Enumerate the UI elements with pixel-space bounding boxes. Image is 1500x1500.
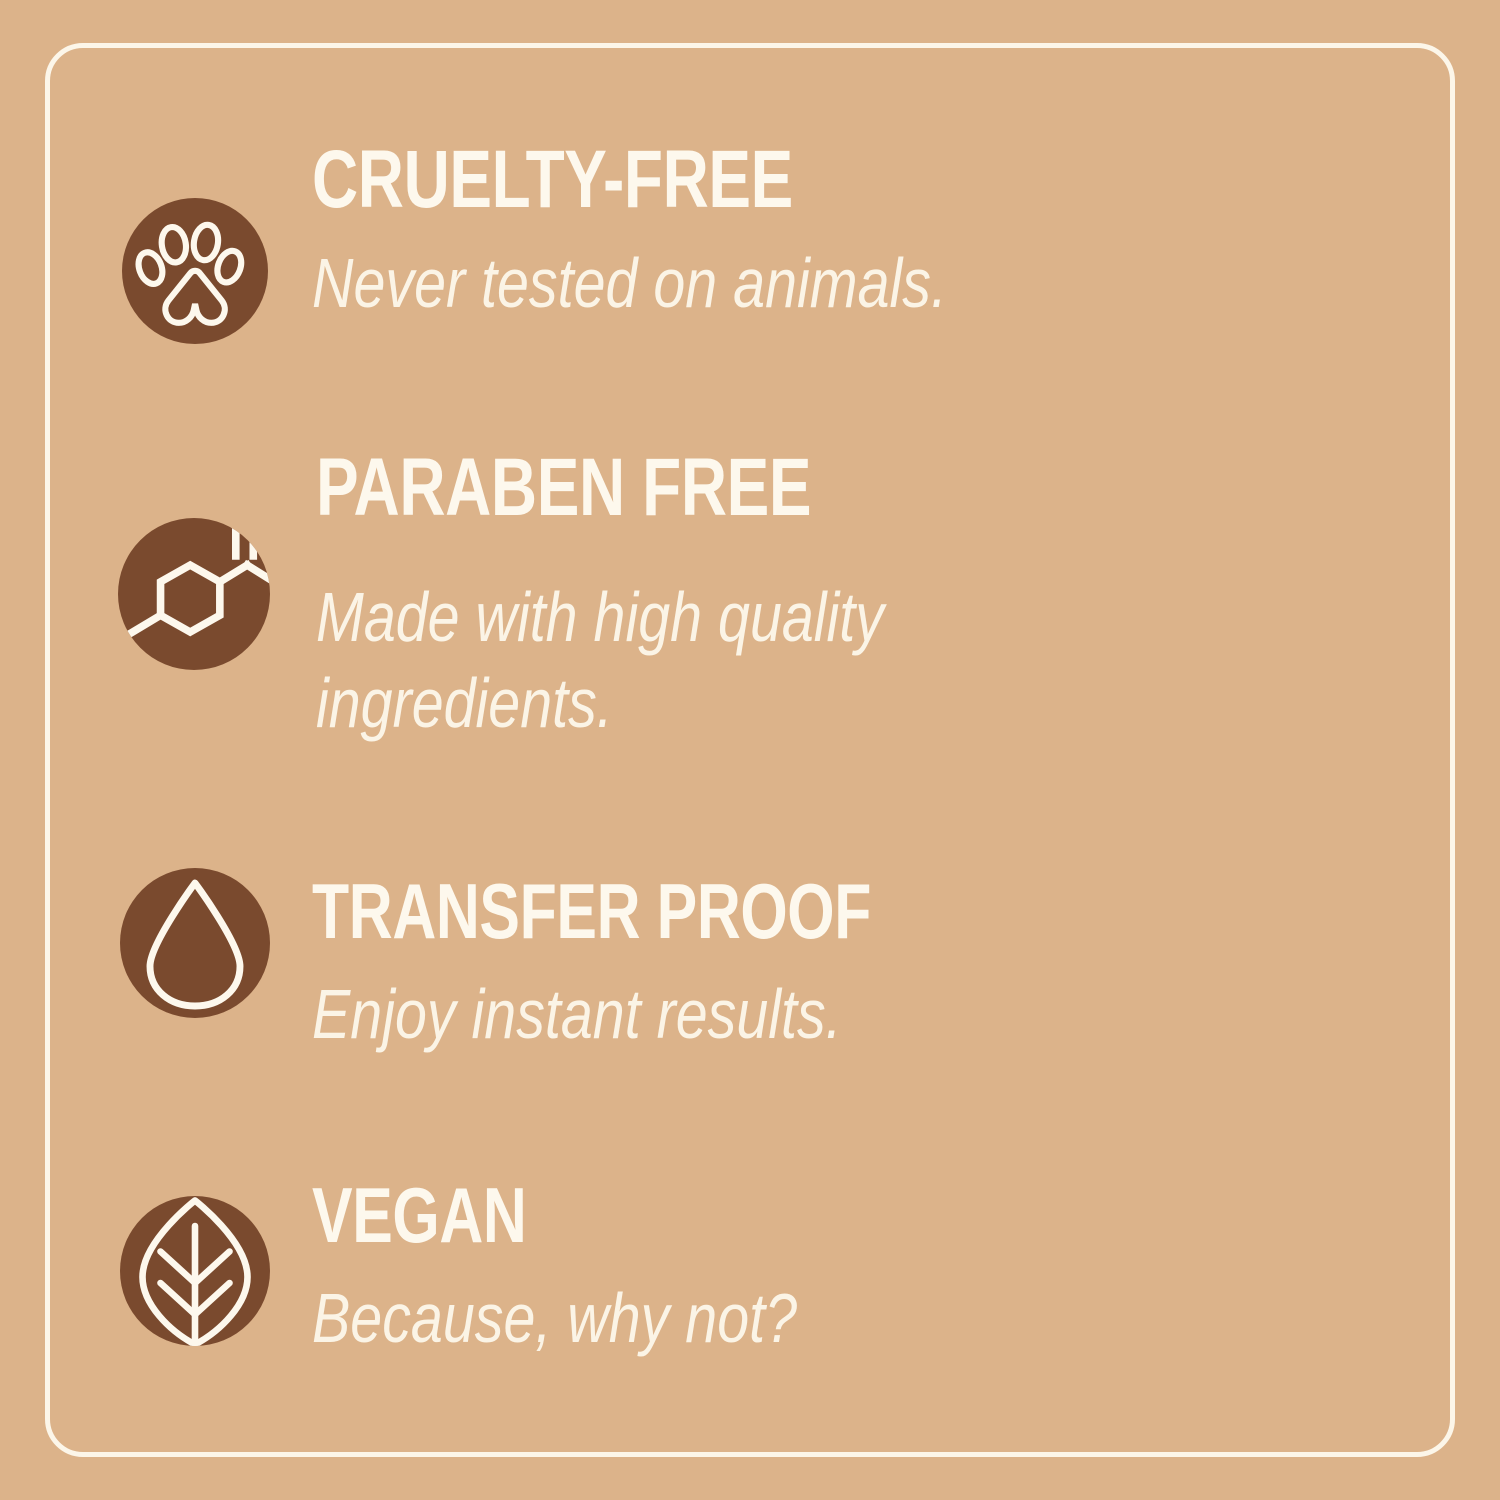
feature-description: Enjoy instant results. xyxy=(312,972,900,1057)
product-benefits-card: CRUELTY-FREE Never tested on animals. PA… xyxy=(0,0,1500,1500)
feature-title: PARABEN FREE xyxy=(316,450,1112,525)
leaf-icon xyxy=(120,1196,270,1346)
molecule-icon xyxy=(118,518,270,670)
water-droplet-icon xyxy=(120,868,270,1018)
molecule-glyph xyxy=(118,518,270,670)
feature-title: CRUELTY-FREE xyxy=(312,142,916,217)
feature-text-cruelty-free: CRUELTY-FREE Never tested on animals. xyxy=(312,142,1086,327)
feature-description: Because, why not? xyxy=(312,1276,797,1361)
feature-description: Made with high quality ingredients. xyxy=(316,575,1152,746)
leaf-glyph xyxy=(120,1196,270,1346)
feature-title: VEGAN xyxy=(312,1180,773,1252)
feature-description: Never tested on animals. xyxy=(312,241,947,326)
paw-print-icon xyxy=(122,198,268,344)
feature-text-vegan: VEGAN Because, why not? xyxy=(312,1180,903,1361)
feature-title: TRANSFER PROOF xyxy=(312,876,871,948)
feature-text-paraben-free: PARABEN FREE Made with high quality ingr… xyxy=(316,450,1336,746)
paw-print-glyph xyxy=(122,198,268,344)
feature-text-transfer-proof: TRANSFER PROOF Enjoy instant results. xyxy=(312,876,1029,1057)
water-droplet-glyph xyxy=(120,868,270,1018)
